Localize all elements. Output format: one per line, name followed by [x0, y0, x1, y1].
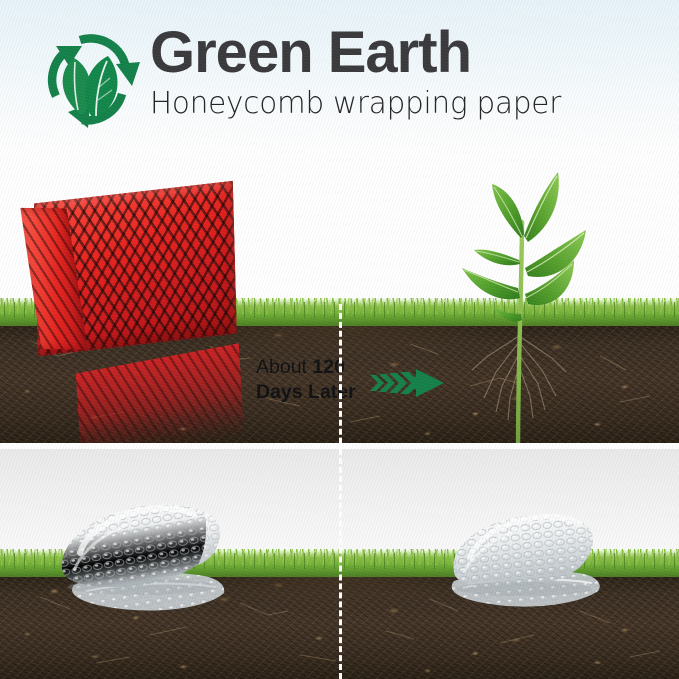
plastic-wrap-left-illustration	[56, 487, 246, 619]
plastic-wrap-right-illustration	[440, 505, 616, 619]
panel-biodegradable-paper: About 120 Days Later	[0, 152, 679, 443]
brand-text-block: Green Earth Honeycomb wrapping paper	[150, 22, 650, 122]
product-infographic: Green Earth Honeycomb wrapping paper	[0, 0, 679, 679]
seedling-illustration	[462, 164, 642, 443]
green-seedling-plant	[462, 164, 642, 443]
plastic-bubble-wrap-roll	[56, 487, 246, 619]
header-banner: Green Earth Honeycomb wrapping paper	[0, 0, 679, 152]
recycle-leaves-icon	[34, 28, 146, 134]
page-title: Green Earth	[150, 22, 650, 84]
vertical-dashed-divider-top	[339, 304, 342, 443]
brand-logo	[34, 28, 146, 134]
panel-plastic-bubble-wrap: About 120 Days Later	[0, 449, 679, 679]
page-subtitle: Honeycomb wrapping paper	[150, 86, 640, 122]
callout-prefix: About	[256, 356, 312, 378]
red-honeycomb-wrapping-paper	[27, 182, 243, 356]
vertical-dashed-divider-bottom	[339, 449, 342, 679]
chevron-arrow-right-icon	[368, 363, 454, 408]
plastic-bubble-wrap-roll-unchanged	[440, 505, 616, 619]
